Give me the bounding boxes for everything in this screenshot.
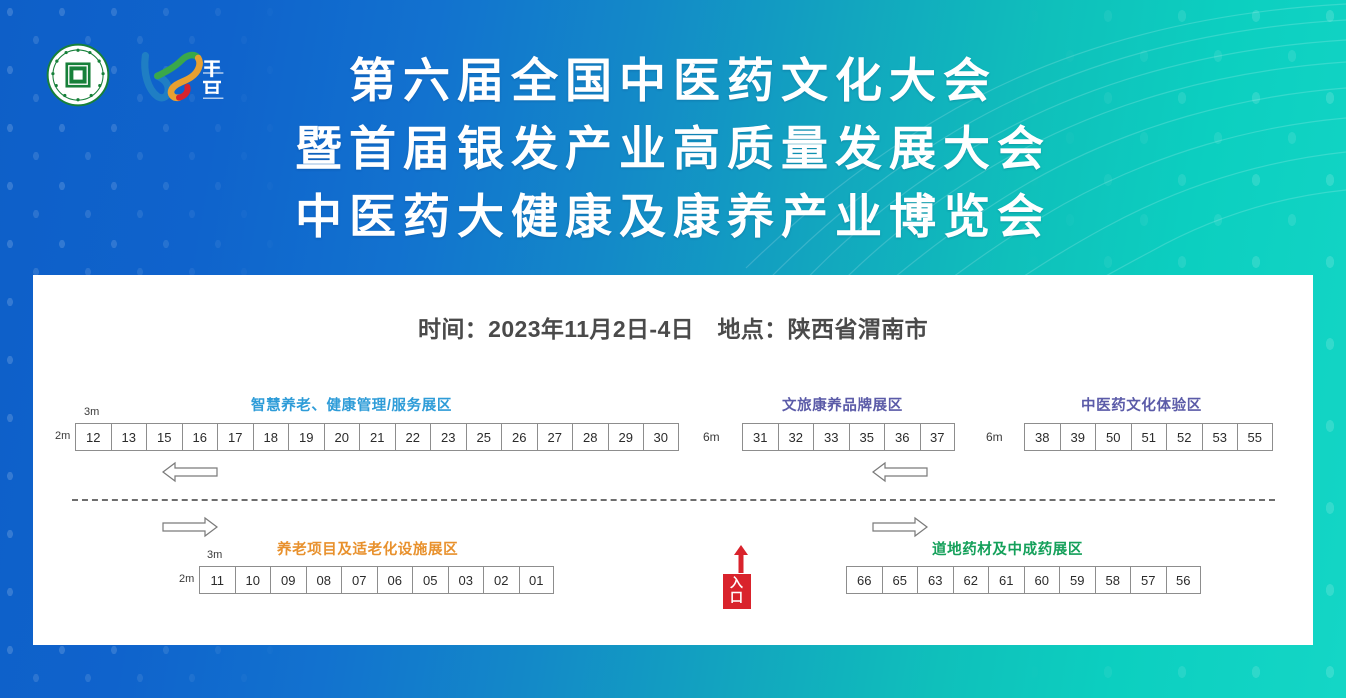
- booth-cell[interactable]: 02: [483, 566, 519, 594]
- booth-cell[interactable]: 26: [501, 423, 537, 451]
- zone-title-smart-elderly-care: 智慧养老、健康管理/服务展区: [251, 394, 452, 415]
- title-line-2: 暨首届银发产业高质量发展大会: [0, 125, 1346, 172]
- gap-label-6m-1: 6m: [703, 430, 720, 444]
- booth-row-tcm-culture-experience: 38395051525355: [1024, 423, 1273, 451]
- booth-cell[interactable]: 60: [1024, 566, 1060, 594]
- booth-row-smart-elderly-care: 1213151617181920212223252627282930: [75, 423, 679, 451]
- gap-label-6m-2: 6m: [986, 430, 1003, 444]
- booth-cell[interactable]: 30: [643, 423, 679, 451]
- booth-cell[interactable]: 57: [1130, 566, 1166, 594]
- poster-root: 第六届全国中医药文化大会 暨首届银发产业高质量发展大会 中医药大健康及康养产业博…: [0, 0, 1346, 698]
- booth-cell[interactable]: 32: [778, 423, 814, 451]
- aisle-center-divider: [72, 499, 1275, 501]
- zone-title-cultural-tourism-health: 文旅康养品牌展区: [782, 394, 903, 415]
- booth-cell[interactable]: 61: [988, 566, 1024, 594]
- booth-cell[interactable]: 18: [253, 423, 289, 451]
- dim-label-width-top-left: 3m: [84, 406, 99, 418]
- booth-cell[interactable]: 58: [1095, 566, 1131, 594]
- info-panel: 时间：2023年11月2日-4日 地点：陕西省渭南市 智慧养老、健康管理/服务展…: [33, 275, 1313, 645]
- aisle-arrow-right-1: [161, 516, 219, 538]
- zone-title-authentic-herbs-patent-medicine: 道地药材及中成药展区: [932, 538, 1083, 559]
- dim-label-width-bottom-left: 3m: [207, 549, 222, 561]
- booth-cell[interactable]: 11: [199, 566, 235, 594]
- poster-titles: 第六届全国中医药文化大会 暨首届银发产业高质量发展大会 中医药大健康及康养产业博…: [0, 57, 1346, 240]
- title-line-3: 中医药大健康及康养产业博览会: [0, 193, 1346, 240]
- aisle-arrow-right-2: [871, 516, 929, 538]
- booth-cell[interactable]: 38: [1024, 423, 1060, 451]
- booth-cell[interactable]: 27: [537, 423, 573, 451]
- aisle-arrow-left-1: [161, 461, 219, 483]
- booth-cell[interactable]: 62: [953, 566, 989, 594]
- booth-cell[interactable]: 21: [359, 423, 395, 451]
- booth-cell[interactable]: 39: [1060, 423, 1096, 451]
- booth-cell[interactable]: 17: [217, 423, 253, 451]
- booth-cell[interactable]: 06: [377, 566, 413, 594]
- booth-cell[interactable]: 13: [111, 423, 147, 451]
- booth-cell[interactable]: 10: [235, 566, 271, 594]
- booth-cell[interactable]: 65: [882, 566, 918, 594]
- booth-cell[interactable]: 37: [920, 423, 956, 451]
- booth-cell[interactable]: 25: [466, 423, 502, 451]
- booth-cell[interactable]: 23: [430, 423, 466, 451]
- dim-label-depth-bottom-left: 2m: [179, 573, 194, 585]
- entrance-label: 入口: [723, 574, 751, 609]
- booth-cell[interactable]: 28: [572, 423, 608, 451]
- entrance-up-arrow-icon: [733, 545, 749, 573]
- booth-cell[interactable]: 20: [324, 423, 360, 451]
- booth-row-authentic-herbs-patent-medicine: 66656362616059585756: [846, 566, 1201, 594]
- dim-label-depth-top-left: 2m: [55, 430, 70, 442]
- poster-header: 第六届全国中医药文化大会 暨首届银发产业高质量发展大会 中医药大健康及康养产业博…: [0, 0, 1346, 275]
- booth-cell[interactable]: 51: [1131, 423, 1167, 451]
- booth-cell[interactable]: 33: [813, 423, 849, 451]
- aisle-arrow-left-2: [871, 461, 929, 483]
- title-line-1: 第六届全国中医药文化大会: [0, 57, 1346, 104]
- booth-cell[interactable]: 55: [1237, 423, 1273, 451]
- booth-cell[interactable]: 19: [288, 423, 324, 451]
- booth-cell[interactable]: 05: [412, 566, 448, 594]
- booth-cell[interactable]: 07: [341, 566, 377, 594]
- booth-cell[interactable]: 09: [270, 566, 306, 594]
- booth-cell[interactable]: 12: [75, 423, 111, 451]
- booth-cell[interactable]: 53: [1202, 423, 1238, 451]
- booth-cell[interactable]: 36: [884, 423, 920, 451]
- booth-cell[interactable]: 66: [846, 566, 882, 594]
- booth-cell[interactable]: 50: [1095, 423, 1131, 451]
- booth-cell[interactable]: 31: [742, 423, 778, 451]
- booth-cell[interactable]: 56: [1166, 566, 1202, 594]
- floor-plan: 智慧养老、健康管理/服务展区 3m 2m 1213151617181920212…: [33, 275, 1313, 645]
- booth-cell[interactable]: 63: [917, 566, 953, 594]
- zone-title-tcm-culture-experience: 中医药文化体验区: [1081, 394, 1202, 415]
- booth-cell[interactable]: 16: [182, 423, 218, 451]
- booth-cell[interactable]: 08: [306, 566, 342, 594]
- booth-cell[interactable]: 15: [146, 423, 182, 451]
- booth-cell[interactable]: 52: [1166, 423, 1202, 451]
- booth-cell[interactable]: 01: [519, 566, 555, 594]
- booth-row-elderly-projects-facilities: 11100908070605030201: [199, 566, 554, 594]
- booth-row-cultural-tourism-health: 313233353637: [742, 423, 955, 451]
- booth-cell[interactable]: 59: [1059, 566, 1095, 594]
- booth-cell[interactable]: 03: [448, 566, 484, 594]
- booth-cell[interactable]: 22: [395, 423, 431, 451]
- booth-cell[interactable]: 35: [849, 423, 885, 451]
- zone-title-elderly-projects-facilities: 养老项目及适老化设施展区: [277, 538, 458, 559]
- booth-cell[interactable]: 29: [608, 423, 644, 451]
